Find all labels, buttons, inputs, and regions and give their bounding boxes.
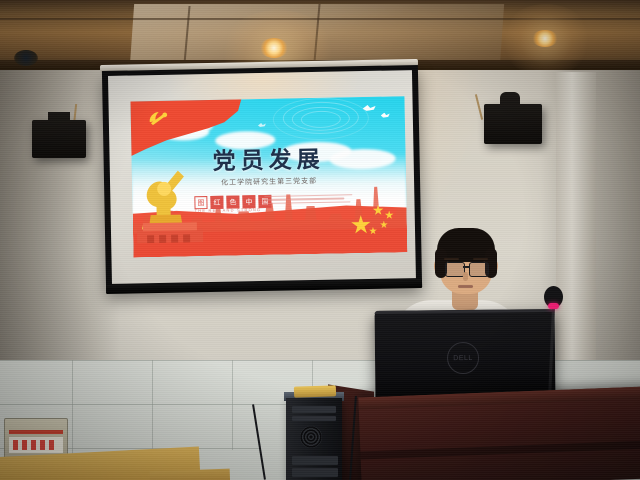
- slide-logo-filler-lines: [264, 194, 356, 206]
- presentation-slide: 党员发展 化工学院研究生第三党支部 图 红 色 中 国 THE RED AND …: [130, 96, 407, 257]
- projection-screen: 党员发展 化工学院研究生第三党支部 图 红 色 中 国 THE RED AND …: [102, 65, 422, 293]
- tile-seam: [72, 360, 73, 460]
- breaker-switch[interactable]: [40, 440, 45, 450]
- slide-title: 党员发展: [131, 138, 406, 177]
- downlight-center: [260, 38, 288, 58]
- tower-front-panel[interactable]: [292, 456, 338, 465]
- gold-wrapped-object: [294, 385, 336, 397]
- wall-speaker-right: [484, 104, 542, 144]
- wall-speaker-left: [32, 120, 86, 158]
- glasses-bridge: [463, 266, 469, 268]
- tile-seam: [152, 360, 153, 460]
- tower-fan-grill: [300, 426, 322, 448]
- dell-laptop[interactable]: DELL: [375, 309, 556, 399]
- microphone-indicator-light: [548, 303, 559, 309]
- tower-drive-bay[interactable]: [292, 416, 336, 421]
- breaker-switch[interactable]: [22, 440, 27, 450]
- wooden-podium: [358, 386, 640, 480]
- party-emblem-icon: [147, 109, 169, 129]
- panel-red-bar: [9, 430, 63, 434]
- wall-column: [556, 72, 596, 372]
- podium-edge: [360, 440, 640, 459]
- tower-drive-bay[interactable]: [292, 406, 336, 413]
- tower-front-panel[interactable]: [292, 468, 338, 477]
- tile-seam: [232, 360, 233, 450]
- downlight-left: [14, 50, 38, 66]
- front-desk-edge: [150, 469, 231, 480]
- downlight-right: [532, 30, 558, 47]
- breaker-switch[interactable]: [13, 440, 18, 450]
- panel-breaker-strip: [9, 437, 63, 453]
- lecture-hall-photo: 党员发展 化工学院研究生第三党支部 图 红 色 中 国 THE RED AND …: [0, 0, 640, 480]
- tiananmen-gate: [135, 216, 205, 243]
- screen-surface: 党员发展 化工学院研究生第三党支部 图 红 色 中 国 THE RED AND …: [108, 70, 416, 284]
- dell-logo: DELL: [447, 342, 479, 374]
- breaker-switch[interactable]: [49, 440, 54, 450]
- presenter-mouth: [458, 285, 473, 288]
- presenter-nose: [463, 272, 468, 281]
- laptop-lid-edge: [375, 309, 555, 314]
- glasses-lens-left: [445, 262, 465, 277]
- glasses-lens-right: [469, 262, 489, 277]
- breaker-switch[interactable]: [31, 440, 36, 450]
